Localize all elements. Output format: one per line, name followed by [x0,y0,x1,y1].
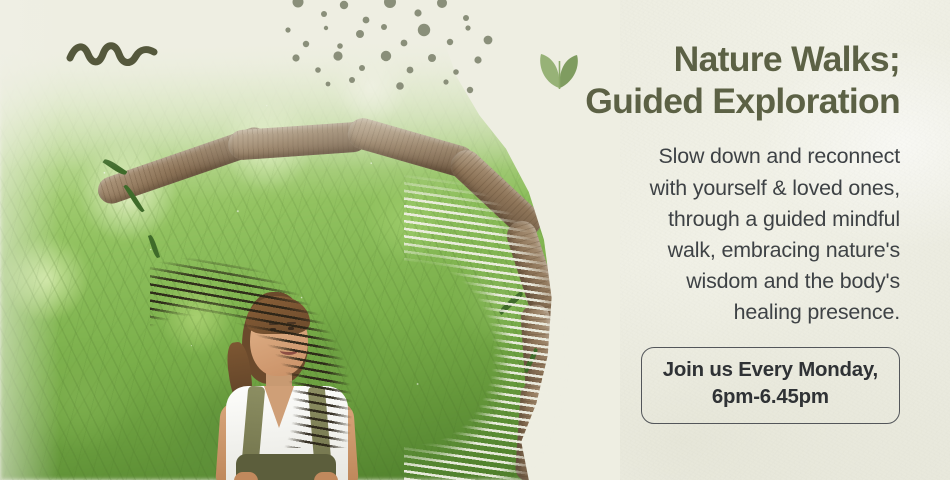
subheading-text: Slow down and reconnect with yourself & … [500,141,900,328]
page-title: Nature Walks; Guided Exploration [585,38,900,122]
water-droplet-sparkles [0,0,580,480]
forest-photo-image [0,0,580,480]
heading-block: Nature Walks; Guided Exploration [500,38,900,122]
schedule-cta-box[interactable]: Join us Every Monday, 6pm-6.45pm [641,347,900,423]
hero-photo [0,0,580,480]
content-column: Nature Walks; Guided Exploration Slow do… [500,0,950,480]
two-leaf-sprout-icon [537,48,583,94]
event-banner: Nature Walks; Guided Exploration Slow do… [0,0,950,480]
